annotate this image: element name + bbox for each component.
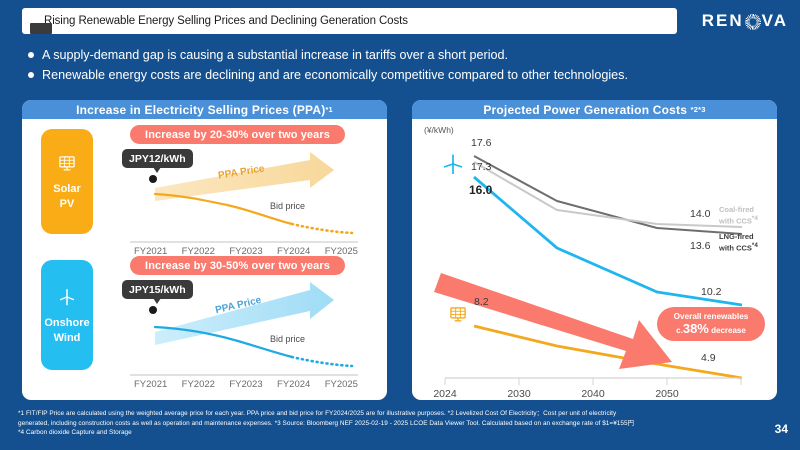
slide-title-bar: Rising Renewable Energy Selling Prices a… xyxy=(22,8,677,34)
right-x-tick: 2024 xyxy=(428,388,462,400)
footnote-line: generated, including construction costs … xyxy=(18,419,758,429)
bullet-dot-icon xyxy=(28,52,34,58)
solar-price-tooltip: JPY12/kWh xyxy=(122,149,193,168)
wind-start-value: 16.0 xyxy=(469,183,492,197)
title-accent-block xyxy=(30,23,52,34)
solar-bid-price-label: Bid price xyxy=(270,201,305,211)
bullet-text: A supply-demand gap is causing a substan… xyxy=(42,47,508,64)
solar-bid-price-line-dashed xyxy=(292,224,352,233)
overall-decrease-badge: Overall renewables c.38% decrease xyxy=(657,307,765,341)
x-tick: FY2024 xyxy=(277,246,310,257)
solar-start-node xyxy=(149,175,157,183)
wind-bid-price-label: Bid price xyxy=(270,334,305,344)
bullet-text: Renewable energy costs are declining and… xyxy=(42,67,628,84)
badge-value: 38% xyxy=(683,321,709,336)
overall-decrease-arrow xyxy=(434,273,672,369)
footnote-line: *4 Carbon dioxide Capture and Storage xyxy=(18,428,758,438)
page-number: 34 xyxy=(775,422,788,436)
series-label-coal-fired-ccs: Coal-fired with CCS*4 xyxy=(719,205,758,226)
badge-line-2: c.38% decrease xyxy=(676,323,746,337)
bullet-list: A supply-demand gap is causing a substan… xyxy=(28,47,768,87)
x-tick: FY2022 xyxy=(182,379,215,390)
series-lng-fired-ccs-line xyxy=(474,156,742,234)
badge-prefix: c. xyxy=(676,326,683,335)
solar-x-tick-labels: FY2021 FY2022 FY2023 FY2024 FY2025 xyxy=(134,246,358,257)
logo-text-left: REN xyxy=(702,11,744,31)
footnote-line: *1 FIT/FIP Price are calculated using th… xyxy=(18,409,758,419)
left-chart-panel: Increase in Electricity Selling Prices (… xyxy=(22,100,387,400)
solar-panel-icon xyxy=(448,305,468,325)
renova-logo: RENVA xyxy=(702,10,788,32)
renova-sun-icon xyxy=(745,14,761,30)
solar-end-value: 4.9 xyxy=(701,352,716,364)
x-tick: FY2023 xyxy=(229,379,262,390)
wind-end-value: 10.2 xyxy=(701,286,721,298)
solar-start-value: 8.2 xyxy=(474,296,489,308)
x-tick: FY2025 xyxy=(325,379,358,390)
coal-start-value: 17.3 xyxy=(471,161,491,173)
x-tick: FY2024 xyxy=(277,379,310,390)
page-title: Rising Renewable Energy Selling Prices a… xyxy=(22,15,408,27)
badge-suffix: decrease xyxy=(711,326,746,335)
series-label-coal-line2: with CCS*4 xyxy=(719,214,758,226)
footnotes: *1 FIT/FIP Price are calculated using th… xyxy=(18,409,758,438)
wind-price-tooltip: JPY15/kWh xyxy=(122,280,193,299)
x-tick: FY2023 xyxy=(229,246,262,257)
right-x-tick: 2040 xyxy=(576,388,610,400)
bullet-item: A supply-demand gap is causing a substan… xyxy=(28,47,768,64)
wind-bid-price-line-dashed xyxy=(292,357,352,366)
right-chart-panel: Projected Power Generation Costs *2*3 (¥… xyxy=(412,100,777,400)
x-tick: FY2025 xyxy=(325,246,358,257)
lng-start-value: 17.6 xyxy=(471,137,491,149)
coal-end-value: 14.0 xyxy=(690,208,710,220)
x-tick: FY2022 xyxy=(182,246,215,257)
slide-canvas: Rising Renewable Energy Selling Prices a… xyxy=(0,0,800,450)
wind-turbine-icon xyxy=(441,152,465,176)
series-label-lng-line2: with CCS*4 xyxy=(719,241,758,253)
lng-end-value: 13.6 xyxy=(690,240,710,252)
series-label-lng-line1: LNG-fired xyxy=(719,232,758,241)
wind-start-node xyxy=(149,306,157,314)
right-x-tick: 2050 xyxy=(650,388,684,400)
series-label-coal-line1: Coal-fired xyxy=(719,205,758,214)
logo-text-right: VA xyxy=(762,11,788,31)
x-tick: FY2021 xyxy=(134,246,167,257)
bullet-item: Renewable energy costs are declining and… xyxy=(28,67,768,84)
wind-x-tick-labels: FY2021 FY2022 FY2023 FY2024 FY2025 xyxy=(134,379,358,390)
bullet-dot-icon xyxy=(28,72,34,78)
x-tick: FY2021 xyxy=(134,379,167,390)
right-x-tick: 2030 xyxy=(502,388,536,400)
series-label-lng-fired-ccs: LNG-fired with CCS*4 xyxy=(719,232,758,253)
